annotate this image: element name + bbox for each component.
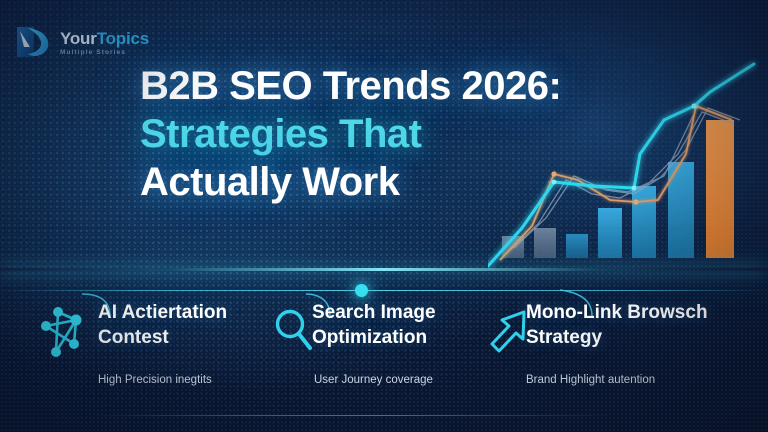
- vignette-overlay: [0, 0, 768, 432]
- banner-stage: YourTopics Multiple Stories B2B SEO Tren…: [0, 0, 768, 432]
